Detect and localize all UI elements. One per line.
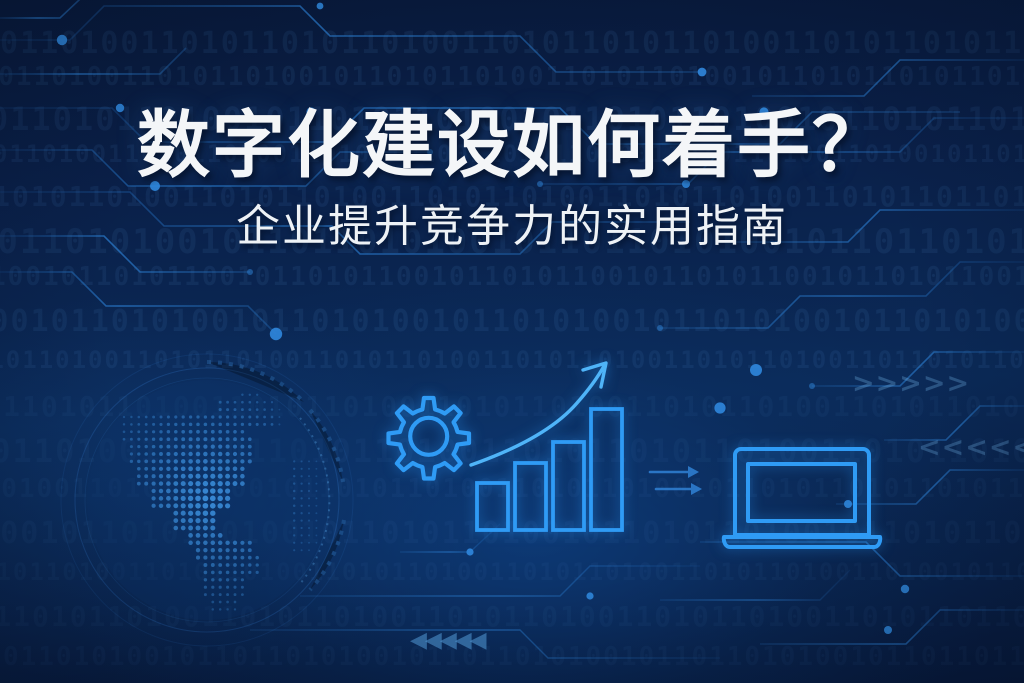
subtitle: 企业提升竞争力的实用指南	[0, 203, 1024, 251]
poster-canvas: 1011010011010110101101001101011010110100…	[0, 0, 1024, 683]
main-title: 数字化建设如何着手？	[0, 108, 1024, 185]
chevrons-left-decor: <<<<<	[918, 432, 1024, 463]
dotted-world-globe	[61, 354, 353, 646]
chevrons-right-decor: >>>>>	[852, 368, 970, 399]
triangles-left-decor: ◀◀◀◀◀	[410, 628, 485, 653]
title-block: 数字化建设如何着手？ 企业提升竞争力的实用指南	[0, 108, 1024, 251]
